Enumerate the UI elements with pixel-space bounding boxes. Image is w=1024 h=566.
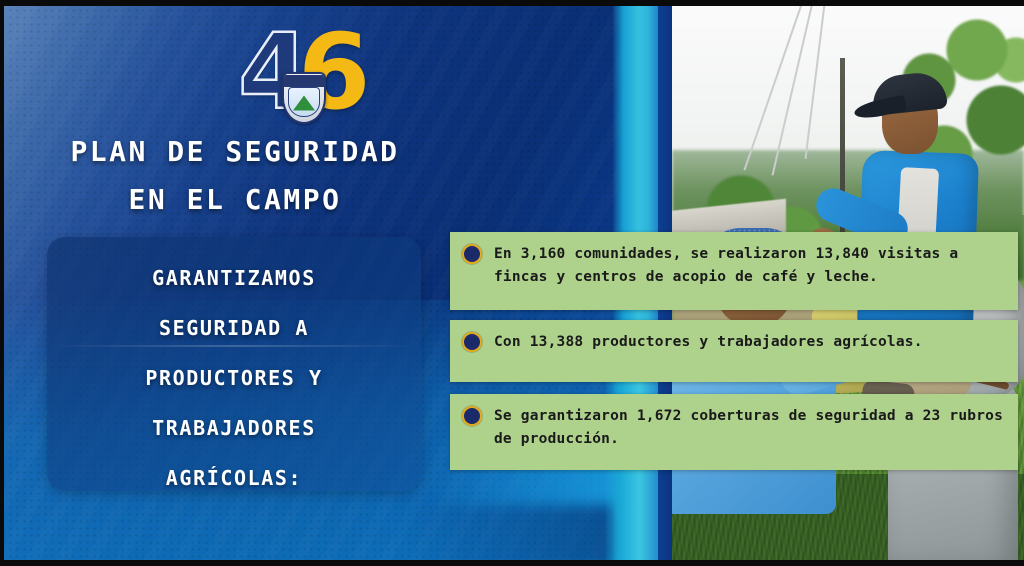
bullet-dot-icon bbox=[462, 244, 482, 264]
bullet-text-3: Se garantizaron 1,672 coberturas de segu… bbox=[494, 405, 1004, 451]
list-item: Con 13,388 productores y trabajadores ag… bbox=[450, 320, 1018, 382]
page-title: PLAN DE SEGURIDAD EN EL CAMPO bbox=[0, 128, 470, 224]
bullet-dot-icon bbox=[462, 332, 482, 352]
list-item: Se garantizaron 1,672 coberturas de segu… bbox=[450, 394, 1018, 470]
panel-highlight-line bbox=[47, 345, 421, 347]
frame-border-bottom bbox=[0, 560, 1024, 566]
frame-border-top bbox=[0, 0, 1024, 6]
shield-triangle-emblem bbox=[293, 95, 315, 110]
bullet-text-1: En 3,160 comunidades, se realizaron 13,8… bbox=[494, 243, 1004, 289]
page-title-line-2: EN EL CAMPO bbox=[0, 176, 470, 224]
statement-text: GARANTIZAMOS SEGURIDAD A PRODUCTORES Y T… bbox=[61, 253, 407, 503]
list-item: En 3,160 comunidades, se realizaron 13,8… bbox=[450, 232, 1018, 310]
shield-inner bbox=[288, 87, 320, 117]
police-shield-icon bbox=[282, 72, 326, 124]
slide-root: 4 6 PLAN DE SEGURIDAD EN EL CAMPO GARANT… bbox=[0, 0, 1024, 566]
statement-line-3: PRODUCTORES Y bbox=[61, 353, 407, 403]
bullet-dot-icon bbox=[462, 406, 482, 426]
frame-border-left bbox=[0, 0, 4, 566]
statistics-list: En 3,160 comunidades, se realizaron 13,8… bbox=[450, 232, 1018, 480]
bullet-text-2: Con 13,388 productores y trabajadores ag… bbox=[494, 331, 1004, 354]
statement-line-5: AGRÍCOLAS: bbox=[61, 453, 407, 503]
statement-line-4: TRABAJADORES bbox=[61, 403, 407, 453]
statement-line-1: GARANTIZAMOS bbox=[61, 253, 407, 303]
statement-panel: GARANTIZAMOS SEGURIDAD A PRODUCTORES Y T… bbox=[47, 237, 421, 491]
anniversary-logo: 4 6 bbox=[236, 20, 366, 130]
shield-top-band bbox=[284, 75, 324, 87]
page-title-line-1: PLAN DE SEGURIDAD bbox=[70, 135, 399, 168]
